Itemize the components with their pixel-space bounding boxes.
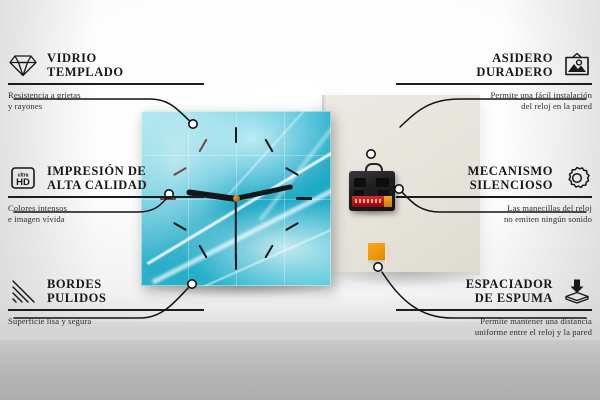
- foam-spacer-arrow-icon: [562, 276, 592, 306]
- diamond-icon: [8, 50, 38, 80]
- feature-divider: [8, 83, 204, 85]
- svg-text:HD: HD: [16, 177, 30, 188]
- ultra-hd-icon: ultra HD: [8, 163, 38, 193]
- feature-divider: [396, 196, 592, 198]
- feature-header: BORDES PULIDOS: [8, 276, 204, 306]
- feature-foam-spacer: ESPACIADOR DE ESPUMA Permite mantener un…: [396, 276, 592, 338]
- feature-hd-print: ultra HD IMPRESIÓN DE ALTA CALIDAD Color…: [8, 163, 204, 225]
- hour-tick-12: [235, 127, 237, 143]
- feature-description: Resistencia a grietas y rayones: [8, 90, 204, 112]
- feature-title: ESPACIADOR DE ESPUMA: [466, 277, 553, 305]
- feature-description: Permite mantener una distancia uniforme …: [396, 316, 592, 338]
- mechanism-slot: [354, 178, 366, 187]
- infographic-canvas: VIDRIO TEMPLADO Resistencia a grietas y …: [0, 0, 600, 400]
- gear-icon: [562, 163, 592, 193]
- feature-title: ASIDERO DURADERO: [476, 51, 553, 79]
- feature-polished-edges: BORDES PULIDOS Superficie lisa y segura: [8, 276, 204, 327]
- feature-header: MECANISMO SILENCIOSO: [396, 163, 592, 193]
- feature-divider: [396, 309, 592, 311]
- feature-divider: [8, 309, 204, 311]
- hour-tick-3: [296, 197, 312, 200]
- battery-label-stripe: [355, 199, 381, 203]
- wall-hanging-picture-icon: [562, 50, 592, 80]
- feature-description: Colores intensos e imagen vívida: [8, 203, 204, 225]
- feature-title: IMPRESIÓN DE ALTA CALIDAD: [47, 164, 147, 192]
- feature-divider: [8, 196, 204, 198]
- feature-tempered-glass: VIDRIO TEMPLADO Resistencia a grietas y …: [8, 50, 204, 112]
- feature-description: Las manecillas del reloj no emiten ningú…: [396, 203, 592, 225]
- feature-divider: [396, 83, 592, 85]
- feature-header: ESPACIADOR DE ESPUMA: [396, 276, 592, 306]
- feature-header: ASIDERO DURADERO: [396, 50, 592, 80]
- feature-description: Superficie lisa y segura: [8, 316, 204, 327]
- feature-title: MECANISMO SILENCIOSO: [467, 164, 553, 192]
- feature-description: Permite una fácil instalación del reloj …: [396, 90, 592, 112]
- feature-durable-hanger: ASIDERO DURADERO Permite una fácil insta…: [396, 50, 592, 112]
- polished-edges-icon: [8, 276, 38, 306]
- battery-positive-terminal: [384, 196, 392, 207]
- clock-second-hand: [235, 199, 237, 261]
- feature-title: VIDRIO TEMPLADO: [47, 51, 124, 79]
- foam-spacer: [368, 243, 385, 260]
- feature-header: ultra HD IMPRESIÓN DE ALTA CALIDAD: [8, 163, 204, 193]
- mechanism-slot: [376, 178, 389, 187]
- feature-header: VIDRIO TEMPLADO: [8, 50, 204, 80]
- foam-spacer-side: [385, 246, 389, 263]
- clock-center-hub: [233, 195, 240, 202]
- feature-title: BORDES PULIDOS: [47, 277, 106, 305]
- feature-silent-mechanism: MECANISMO SILENCIOSO Las manecillas del …: [396, 163, 592, 225]
